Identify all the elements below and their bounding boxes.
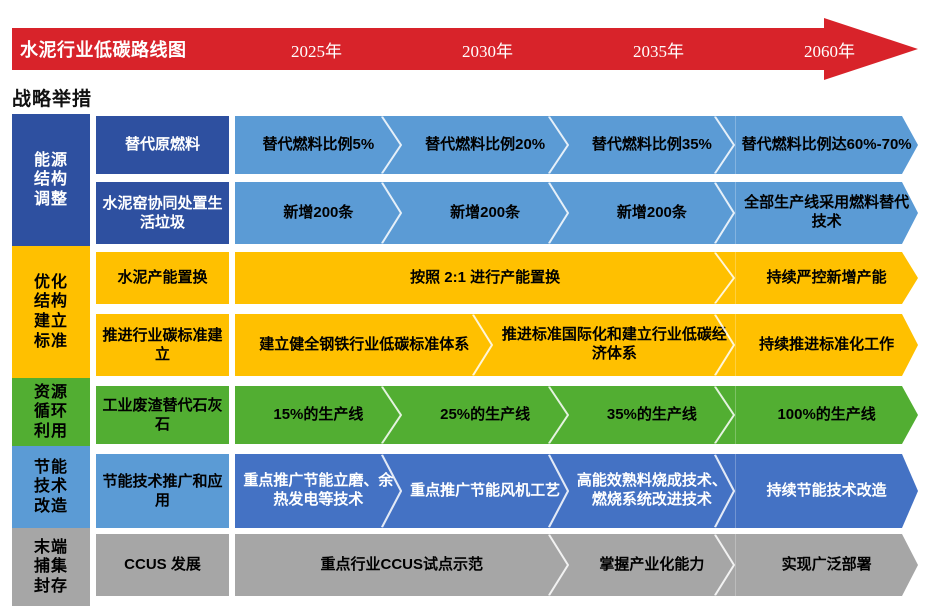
- milestone-text: 建立健全钢铁行业低碳标准体系: [253, 336, 475, 355]
- measure-label-7: CCUS 发展: [96, 534, 229, 596]
- chevron-divider-icon: [548, 182, 569, 244]
- milestone-text: 35%的生产线: [601, 406, 703, 425]
- measure-text: 工业废渣替代石灰石: [96, 396, 229, 434]
- milestone-text: 25%的生产线: [434, 406, 536, 425]
- milestone-cell[interactable]: 实现广泛部署: [735, 534, 918, 596]
- milestone-text: 新增200条: [611, 204, 693, 223]
- chevron-divider-icon: [472, 314, 493, 376]
- measure-label-2: 水泥窑协同处置生活垃圾: [96, 182, 229, 244]
- timeline-row-4: 建立健全钢铁行业低碳标准体系推进标准国际化和建立行业低碳经济体系持续推进标准化工…: [235, 314, 918, 376]
- timeline-row-7: 重点行业CCUS试点示范掌握产业化能力实现广泛部署: [235, 534, 918, 596]
- timeline-row-3: 按照 2:1 进行产能置换持续严控新增产能: [235, 252, 918, 304]
- milestone-text: 替代燃料比例5%: [257, 136, 381, 155]
- section-subtitle: 战略举措: [12, 84, 92, 111]
- roadmap-page: 水泥行业低碳路线图 2025年 2030年 2035年 2060年 战略举措 能…: [0, 0, 930, 615]
- chevron-divider-icon: [714, 182, 735, 244]
- measure-label-6: 节能技术推广和应用: [96, 454, 229, 528]
- roadmap-title: 水泥行业低碳路线图: [20, 32, 225, 66]
- milestone-text: 重点推广节能风机工艺: [404, 482, 566, 501]
- milestone-cell[interactable]: 新增200条: [235, 182, 402, 244]
- category-label-3: 资源循环利用: [12, 378, 90, 446]
- milestone-cell[interactable]: 35%的生产线: [569, 386, 736, 444]
- measure-label-5: 工业废渣替代石灰石: [96, 386, 229, 444]
- category-line: 技术: [34, 477, 68, 497]
- chevron-divider-icon: [381, 386, 402, 444]
- timeline-row-2: 新增200条新增200条新增200条全部生产线采用燃料替代技术: [235, 182, 918, 244]
- category-line: 调整: [34, 190, 68, 210]
- milestone-text: 替代燃料比例达60%-70%: [736, 136, 918, 155]
- milestone-text: 持续推进标准化工作: [753, 336, 900, 355]
- milestone-cell[interactable]: 持续严控新增产能: [735, 252, 918, 304]
- milestone-cell[interactable]: 推进标准国际化和建立行业低碳经济体系: [493, 314, 735, 376]
- milestone-text: 替代燃料比例20%: [419, 136, 551, 155]
- measure-text: 水泥产能置换: [117, 268, 207, 287]
- milestone-text: 掌握产业化能力: [593, 556, 710, 575]
- milestone-cell[interactable]: 建立健全钢铁行业低碳标准体系: [235, 314, 493, 376]
- timeline-row-1: 替代燃料比例5%替代燃料比例20%替代燃料比例35%替代燃料比例达60%-70%: [235, 116, 918, 174]
- milestone-cell[interactable]: 持续推进标准化工作: [735, 314, 918, 376]
- milestone-text: 重点行业CCUS试点示范: [314, 556, 489, 575]
- measure-text: 推进行业碳标准建立: [96, 326, 229, 364]
- year-label-2060: 2060年: [744, 32, 915, 66]
- category-line: 结构: [34, 170, 68, 190]
- year-label-2025: 2025年: [231, 32, 402, 66]
- milestone-text: 按照 2:1 进行产能置换: [404, 269, 566, 288]
- category-line: 节能: [34, 458, 68, 478]
- milestone-cell[interactable]: 持续节能技术改造: [735, 454, 918, 528]
- milestone-text: 新增200条: [277, 204, 359, 223]
- milestone-text: 持续严控新增产能: [761, 269, 893, 288]
- measure-text: CCUS 发展: [124, 555, 201, 574]
- roadmap-grid: 能源结构调整优化结构建立标准资源循环利用节能技术改造末端捕集封存替代原燃料替代燃…: [12, 114, 918, 608]
- milestone-cell[interactable]: 替代燃料比例5%: [235, 116, 402, 174]
- milestone-cell[interactable]: 25%的生产线: [402, 386, 569, 444]
- category-line: 末端: [34, 538, 68, 558]
- milestone-text: 替代燃料比例35%: [586, 136, 718, 155]
- milestone-cell[interactable]: 重点推广节能立磨、余热发电等技术: [235, 454, 402, 528]
- milestone-cell[interactable]: 重点行业CCUS试点示范: [235, 534, 569, 596]
- measure-text: 水泥窑协同处置生活垃圾: [96, 194, 229, 232]
- year-label-2035: 2035年: [573, 32, 744, 66]
- chevron-divider-icon: [548, 534, 569, 596]
- chevron-divider-icon: [381, 116, 402, 174]
- chevron-divider-icon: [714, 252, 735, 304]
- milestone-cell[interactable]: 15%的生产线: [235, 386, 402, 444]
- milestone-text: 重点推广节能立磨、余热发电等技术: [235, 472, 402, 510]
- milestone-cell[interactable]: 替代燃料比例20%: [402, 116, 569, 174]
- milestone-cell[interactable]: 掌握产业化能力: [569, 534, 736, 596]
- milestone-cell[interactable]: 按照 2:1 进行产能置换: [235, 252, 735, 304]
- measure-text: 替代原燃料: [125, 135, 200, 154]
- category-line: 资源: [34, 383, 68, 403]
- milestone-text: 新增200条: [444, 204, 526, 223]
- category-label-4: 节能技术改造: [12, 446, 90, 528]
- measure-text: 节能技术推广和应用: [96, 472, 229, 510]
- milestone-cell[interactable]: 替代燃料比例35%: [569, 116, 736, 174]
- category-label-1: 能源结构调整: [12, 114, 90, 246]
- chevron-divider-icon: [714, 386, 735, 444]
- milestone-cell[interactable]: 新增200条: [569, 182, 736, 244]
- milestone-cell[interactable]: 替代燃料比例达60%-70%: [735, 116, 918, 174]
- timeline-row-6: 重点推广节能立磨、余热发电等技术重点推广节能风机工艺高能效熟料烧成技术、燃烧系统…: [235, 454, 918, 528]
- milestone-cell[interactable]: 重点推广节能风机工艺: [402, 454, 569, 528]
- milestone-text: 实现广泛部署: [776, 556, 878, 575]
- category-line: 循环: [34, 402, 68, 422]
- measure-label-3: 水泥产能置换: [96, 252, 229, 304]
- category-line: 结构: [34, 292, 68, 312]
- category-line: 标准: [34, 332, 68, 352]
- category-label-5: 末端捕集封存: [12, 528, 90, 606]
- chevron-divider-icon: [714, 534, 735, 596]
- chevron-divider-icon: [381, 182, 402, 244]
- category-line: 利用: [34, 422, 68, 442]
- category-line: 捕集: [34, 557, 68, 577]
- category-label-2: 优化结构建立标准: [12, 246, 90, 378]
- measure-label-4: 推进行业碳标准建立: [96, 314, 229, 376]
- milestone-text: 全部生产线采用燃料替代技术: [735, 194, 918, 232]
- category-line: 优化: [34, 273, 68, 293]
- category-line: 封存: [34, 577, 68, 597]
- chevron-divider-icon: [548, 386, 569, 444]
- milestone-text: 100%的生产线: [771, 406, 881, 425]
- timeline-row-5: 15%的生产线25%的生产线35%的生产线100%的生产线: [235, 386, 918, 444]
- milestone-cell[interactable]: 高能效熟料烧成技术、燃烧系统改进技术: [569, 454, 736, 528]
- milestone-cell[interactable]: 新增200条: [402, 182, 569, 244]
- category-line: 建立: [34, 312, 68, 332]
- year-label-2030: 2030年: [402, 32, 573, 66]
- milestone-text: 高能效熟料烧成技术、燃烧系统改进技术: [569, 472, 736, 510]
- category-line: 改造: [34, 497, 68, 517]
- measure-label-1: 替代原燃料: [96, 116, 229, 174]
- category-line: 能源: [34, 151, 68, 171]
- milestone-cell[interactable]: 全部生产线采用燃料替代技术: [735, 182, 918, 244]
- milestone-cell[interactable]: 100%的生产线: [735, 386, 918, 444]
- milestone-text: 推进标准国际化和建立行业低碳经济体系: [493, 326, 735, 364]
- milestone-text: 15%的生产线: [267, 406, 369, 425]
- milestone-text: 持续节能技术改造: [761, 482, 893, 501]
